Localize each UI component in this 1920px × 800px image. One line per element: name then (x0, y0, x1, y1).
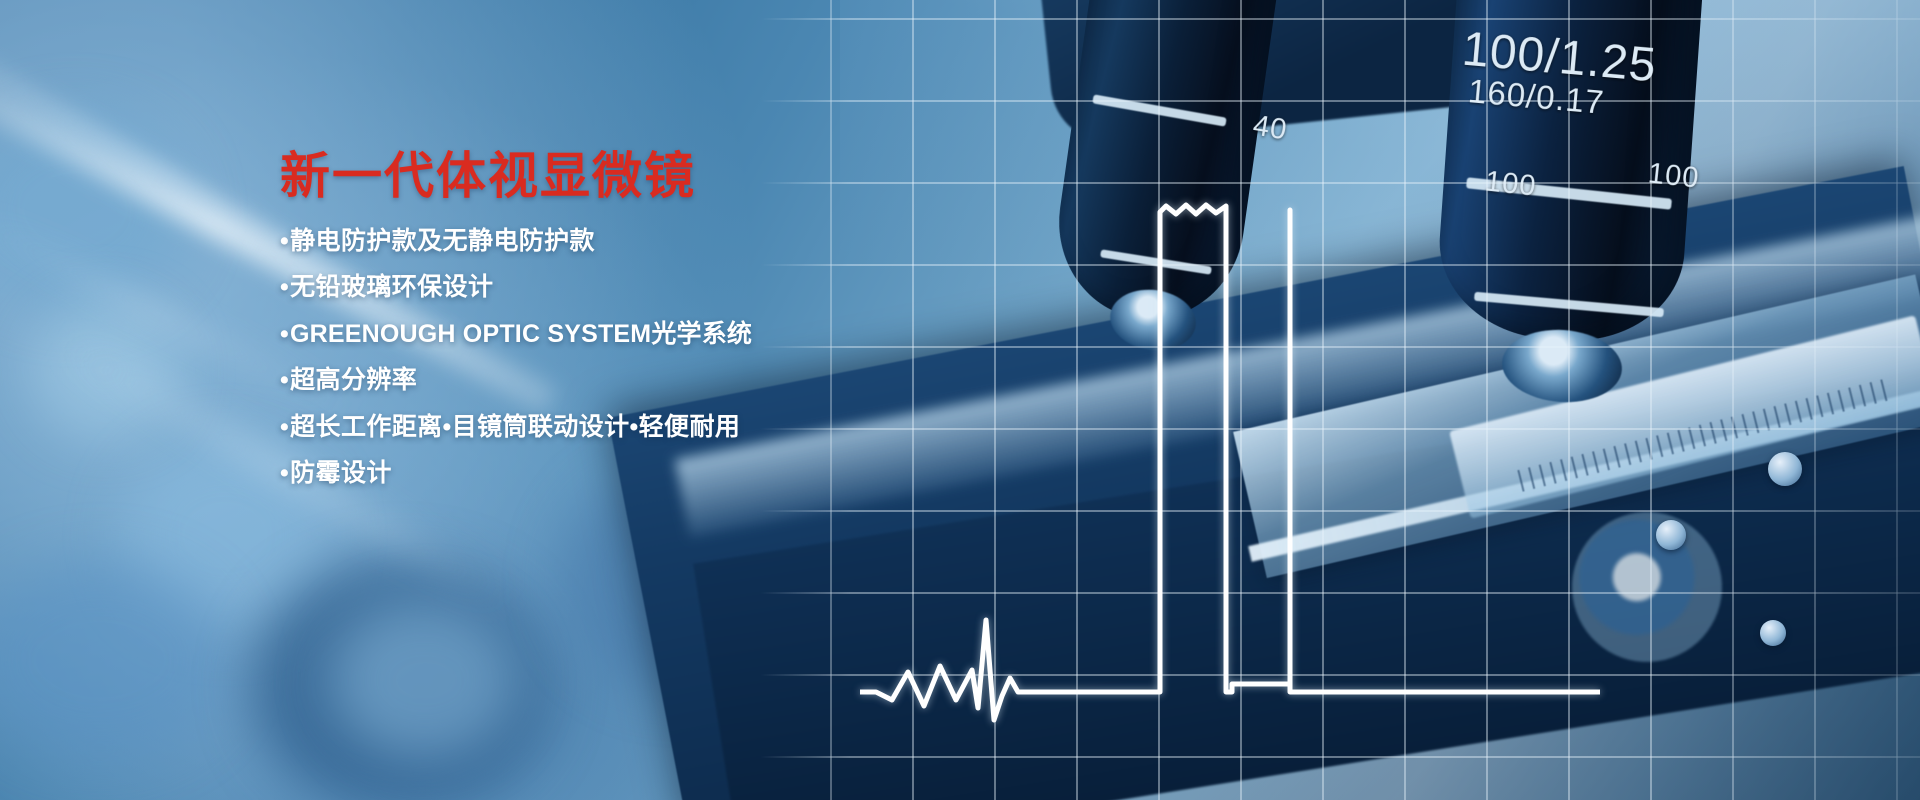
bullet-marker-icon: • (280, 227, 289, 255)
ecg-square-pulse-trace (860, 205, 1600, 720)
hero-banner: 40 100/1.25 160/0.17 100 100 新一代体视显微镜 •静… (0, 0, 1920, 800)
feature-item-label: 静电防护款及无静电防护款 (290, 227, 595, 255)
feature-item-label: GREENOUGH OPTIC SYSTEM光学系统 (290, 320, 752, 348)
feature-item-5: •超长工作距离•目镜筒联动设计•轻便耐用 (280, 415, 900, 441)
feature-item-1: •静电防护款及无静电防护款 (280, 229, 900, 255)
feature-item-label: 超长工作距离•目镜筒联动设计•轻便耐用 (290, 413, 740, 441)
feature-list: •静电防护款及无静电防护款 •无铅玻璃环保设计 •GREENOUGH OPTIC… (280, 229, 900, 487)
feature-item-4: •超高分辨率 (280, 368, 900, 394)
bullet-marker-icon: • (280, 459, 289, 487)
feature-item-label: 超高分辨率 (290, 366, 417, 394)
bullet-marker-icon: • (280, 273, 289, 301)
bullet-marker-icon: • (280, 320, 289, 348)
feature-item-label: 防霉设计 (290, 459, 392, 487)
bullet-marker-icon: • (280, 366, 289, 394)
bullet-marker-icon: • (280, 413, 289, 441)
waveform-overlay (860, 200, 1600, 760)
feature-item-6: •防霉设计 (280, 461, 900, 487)
feature-item-2: •无铅玻璃环保设计 (280, 275, 900, 301)
feature-item-3: •GREENOUGH OPTIC SYSTEM光学系统 (280, 322, 900, 348)
hero-copy: 新一代体视显微镜 •静电防护款及无静电防护款 •无铅玻璃环保设计 •GREENO… (280, 150, 900, 508)
bokeh-blob (330, 600, 520, 760)
feature-item-label: 无铅玻璃环保设计 (290, 273, 493, 301)
page-title: 新一代体视显微镜 (280, 150, 900, 203)
